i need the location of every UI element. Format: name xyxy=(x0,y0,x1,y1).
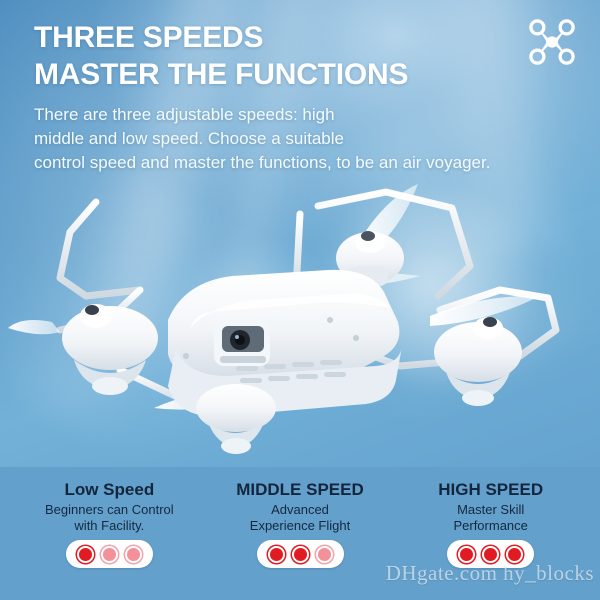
speed-card-high: HIGH SPEED Master Skill Performance xyxy=(395,481,586,568)
speed-card-description-line-1: Beginners can Control xyxy=(45,502,174,518)
speed-card-description: Beginners can Control with Facility. xyxy=(45,502,174,534)
speed-card-description-line-1: Master Skill xyxy=(453,502,527,518)
speed-card-title: Low Speed xyxy=(64,481,154,500)
speed-card-description-line-2: Experience Flight xyxy=(250,518,350,534)
headline-line-2: MASTER THE FUNCTIONS xyxy=(34,57,574,94)
speed-level-indicator-low xyxy=(66,540,153,568)
drone-product-image xyxy=(0,170,600,470)
speed-dot-active xyxy=(482,546,499,563)
speed-dot-active xyxy=(77,546,94,563)
speed-levels-panel: Low Speed Beginners can Control with Fac… xyxy=(0,467,600,600)
headline-line-1: THREE SPEEDS xyxy=(34,21,263,54)
speed-card-title: HIGH SPEED xyxy=(438,481,543,500)
speed-card-low: Low Speed Beginners can Control with Fac… xyxy=(14,481,205,568)
product-ad-banner: THREE SPEEDS MASTER THE FUNCTIONS There … xyxy=(0,0,600,600)
speed-level-indicator-high xyxy=(447,540,534,568)
speed-dot-active xyxy=(458,546,475,563)
speed-card-description: Master Skill Performance xyxy=(453,502,527,534)
speed-card-description-line-2: with Facility. xyxy=(45,518,174,534)
speed-card-title: MIDDLE SPEED xyxy=(236,481,364,500)
header-block: THREE SPEEDS MASTER THE FUNCTIONS There … xyxy=(34,20,574,176)
header-description: There are three adjustable speeds: high … xyxy=(34,103,574,175)
page-title: THREE SPEEDS MASTER THE FUNCTIONS xyxy=(34,20,574,93)
speed-dot-active xyxy=(506,546,523,563)
description-line-1: There are three adjustable speeds: high xyxy=(34,103,574,127)
speed-card-middle: MIDDLE SPEED Advanced Experience Flight xyxy=(205,481,396,568)
speed-card-description-line-2: Performance xyxy=(453,518,527,534)
speed-dot-inactive xyxy=(101,546,118,563)
speed-card-description: Advanced Experience Flight xyxy=(250,502,350,534)
speed-dot-inactive xyxy=(316,546,333,563)
speed-dot-active xyxy=(268,546,285,563)
speed-dot-active xyxy=(292,546,309,563)
speed-dot-inactive xyxy=(125,546,142,563)
description-line-2: middle and low speed. Choose a suitable xyxy=(34,127,574,151)
speed-card-description-line-1: Advanced xyxy=(250,502,350,518)
speed-level-indicator-middle xyxy=(257,540,344,568)
drone-icon xyxy=(526,16,578,68)
